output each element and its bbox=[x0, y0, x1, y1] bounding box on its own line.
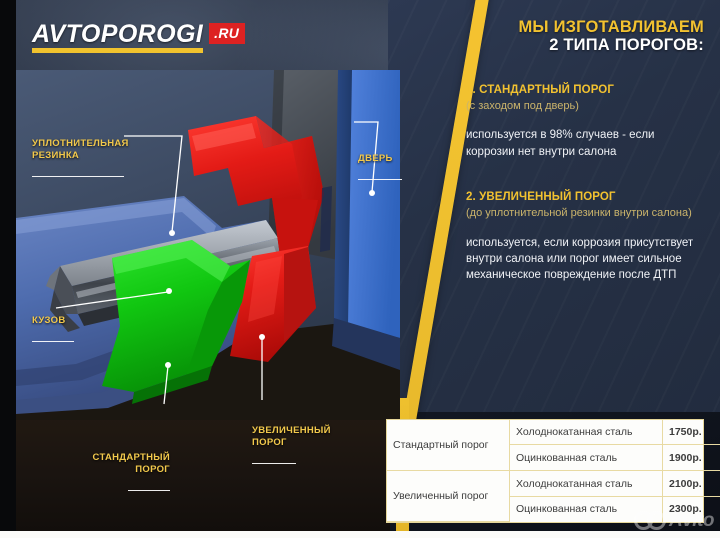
section-standard-title: 1. СТАНДАРТНЫЙ ПОРОГ bbox=[466, 83, 704, 98]
label-body-rule bbox=[32, 341, 74, 343]
label-standard-text: СТАНДАРТНЫЙ ПОРОГ bbox=[84, 452, 170, 476]
bottom-white-strip bbox=[0, 531, 720, 538]
left-edge-strip bbox=[0, 0, 16, 538]
section-enlarged-body: используется, если коррозия присутствует… bbox=[466, 235, 704, 284]
label-seal-text: УПЛОТНИТЕЛЬНАЯ РЕЗИНКА bbox=[32, 138, 158, 162]
logo-underline-bar bbox=[32, 48, 203, 53]
section-standard-body: используется в 98% случаев - если корроз… bbox=[466, 127, 704, 160]
cell-type-standard: Стандартный порог bbox=[387, 420, 510, 471]
label-seal-rule bbox=[32, 176, 124, 178]
sill-cross-section-illustration bbox=[16, 70, 400, 420]
label-seal: УПЛОТНИТЕЛЬНАЯ РЕЗИНКА bbox=[32, 126, 158, 189]
table-row: Стандартный порог Холоднокатанная сталь … bbox=[387, 420, 720, 445]
label-body: КУЗОВ bbox=[32, 303, 112, 354]
label-door-rule bbox=[358, 179, 402, 181]
leader-lines bbox=[16, 70, 400, 420]
cell-material: Холоднокатанная сталь bbox=[510, 420, 663, 445]
label-door: ДВЕРЬ bbox=[358, 141, 410, 192]
heading-line-2: 2 ТИПА ПОРОГОВ: bbox=[466, 36, 704, 54]
label-enlarged-rule bbox=[252, 463, 296, 465]
cell-price: 1900р. bbox=[663, 445, 720, 471]
price-table: Стандартный порог Холоднокатанная сталь … bbox=[387, 420, 720, 522]
section-standard: 1. СТАНДАРТНЫЙ ПОРОГ (с заходом под двер… bbox=[466, 83, 704, 160]
section-standard-subtitle: (с заходом под дверь) bbox=[466, 99, 704, 114]
cell-price: 2100р. bbox=[663, 471, 720, 497]
logo-text: AVTOPOROGI bbox=[32, 22, 203, 47]
promo-banner: AVTOPOROGI .RU bbox=[0, 0, 720, 538]
brand-logo[interactable]: AVTOPOROGI .RU bbox=[32, 22, 245, 53]
cell-material: Холоднокатанная сталь bbox=[510, 471, 663, 497]
section-enlarged: 2. УВЕЛИЧЕННЫЙ ПОРОГ (до уплотнительной … bbox=[466, 190, 704, 283]
cell-material: Оцинкованная сталь bbox=[510, 445, 663, 471]
cell-price: 1750р. bbox=[663, 420, 720, 445]
cell-price: 2300р. bbox=[663, 496, 720, 521]
logo-wordmark: AVTOPOROGI bbox=[32, 22, 203, 53]
label-door-text: ДВЕРЬ bbox=[358, 153, 410, 165]
cell-type-enlarged: Увеличенный порог bbox=[387, 471, 510, 522]
panel-heading: МЫ ИЗГОТАВЛИВАЕМ 2 ТИПА ПОРОГОВ: bbox=[466, 18, 704, 55]
table-row: Увеличенный порог Холоднокатанная сталь … bbox=[387, 471, 720, 497]
label-enlarged-text: УВЕЛИЧЕННЫЙ ПОРОГ bbox=[252, 425, 344, 449]
logo-tld-badge: .RU bbox=[209, 23, 245, 44]
heading-line-1: МЫ ИЗГОТАВЛИВАЕМ bbox=[466, 18, 704, 36]
price-table-container: Стандартный порог Холоднокатанная сталь … bbox=[386, 419, 704, 523]
section-enlarged-title: 2. УВЕЛИЧЕННЫЙ ПОРОГ bbox=[466, 190, 704, 205]
label-enlarged-sill: УВЕЛИЧЕННЫЙ ПОРОГ bbox=[252, 413, 344, 476]
label-body-text: КУЗОВ bbox=[32, 315, 112, 327]
cell-material: Оцинкованная сталь bbox=[510, 496, 663, 521]
section-enlarged-subtitle: (до уплотнительной резинки внутри салона… bbox=[466, 206, 704, 221]
info-panel: МЫ ИЗГОТАВЛИВАЕМ 2 ТИПА ПОРОГОВ: 1. СТАН… bbox=[466, 18, 704, 303]
label-standard-rule bbox=[128, 490, 170, 492]
label-standard-sill: СТАНДАРТНЫЙ ПОРОГ bbox=[84, 440, 170, 503]
